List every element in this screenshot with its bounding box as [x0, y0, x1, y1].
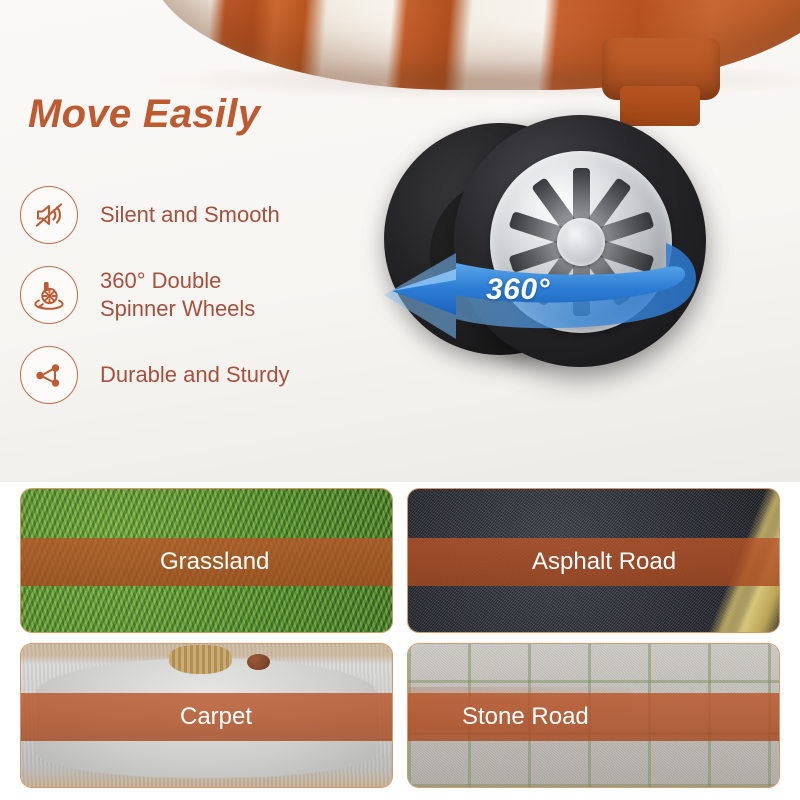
share-nodes-icon [20, 346, 78, 404]
feature-label: 360° Double Spinner Wheels [100, 267, 255, 323]
tile-caption-band: Asphalt Road [408, 538, 779, 587]
page-title: Move Easily [28, 92, 260, 137]
badge-360: 360° [486, 273, 550, 307]
move-easily-panel: Move Easily Silent and Smooth [0, 0, 800, 482]
tile-label: Grassland [146, 548, 283, 576]
feature-label: Durable and Sturdy [100, 361, 290, 389]
decor-ball [247, 654, 269, 670]
tile-label: Stone Road [448, 703, 603, 731]
feature-label-line2: Spinner Wheels [100, 296, 255, 321]
woven-basket [169, 645, 232, 674]
asphalt-road-tile: Asphalt Road [407, 488, 780, 633]
stone-road-tile: Stone Road [407, 643, 780, 788]
tile-caption-band: Grassland [21, 538, 392, 587]
surface-tile-grid: Grassland Asphalt Road Carpet [20, 488, 780, 788]
spinner-wheel-icon [20, 266, 78, 324]
feature-label-line1: 360° Double [100, 268, 221, 293]
tile-caption-band: Carpet [21, 693, 392, 742]
mute-speaker-icon [20, 186, 78, 244]
feature-item-spinner: 360° Double Spinner Wheels [20, 266, 360, 324]
grassland-tile: Grassland [20, 488, 393, 633]
product-feature-graphic: Move Easily Silent and Smooth [0, 0, 800, 800]
tile-label: Carpet [166, 703, 266, 731]
feature-list: Silent and Smooth 360° Double Spinner [20, 186, 360, 426]
feature-item-durable: Durable and Sturdy [20, 346, 360, 404]
feature-label: Silent and Smooth [100, 201, 280, 229]
surfaces-panel: Grassland Asphalt Road Carpet [0, 482, 800, 800]
feature-item-silent: Silent and Smooth [20, 186, 360, 244]
tile-caption-band: Stone Road [408, 693, 779, 742]
carpet-tile: Carpet [20, 643, 393, 788]
spinner-wheel-image: 360° [378, 105, 738, 425]
tile-label: Asphalt Road [518, 548, 690, 576]
